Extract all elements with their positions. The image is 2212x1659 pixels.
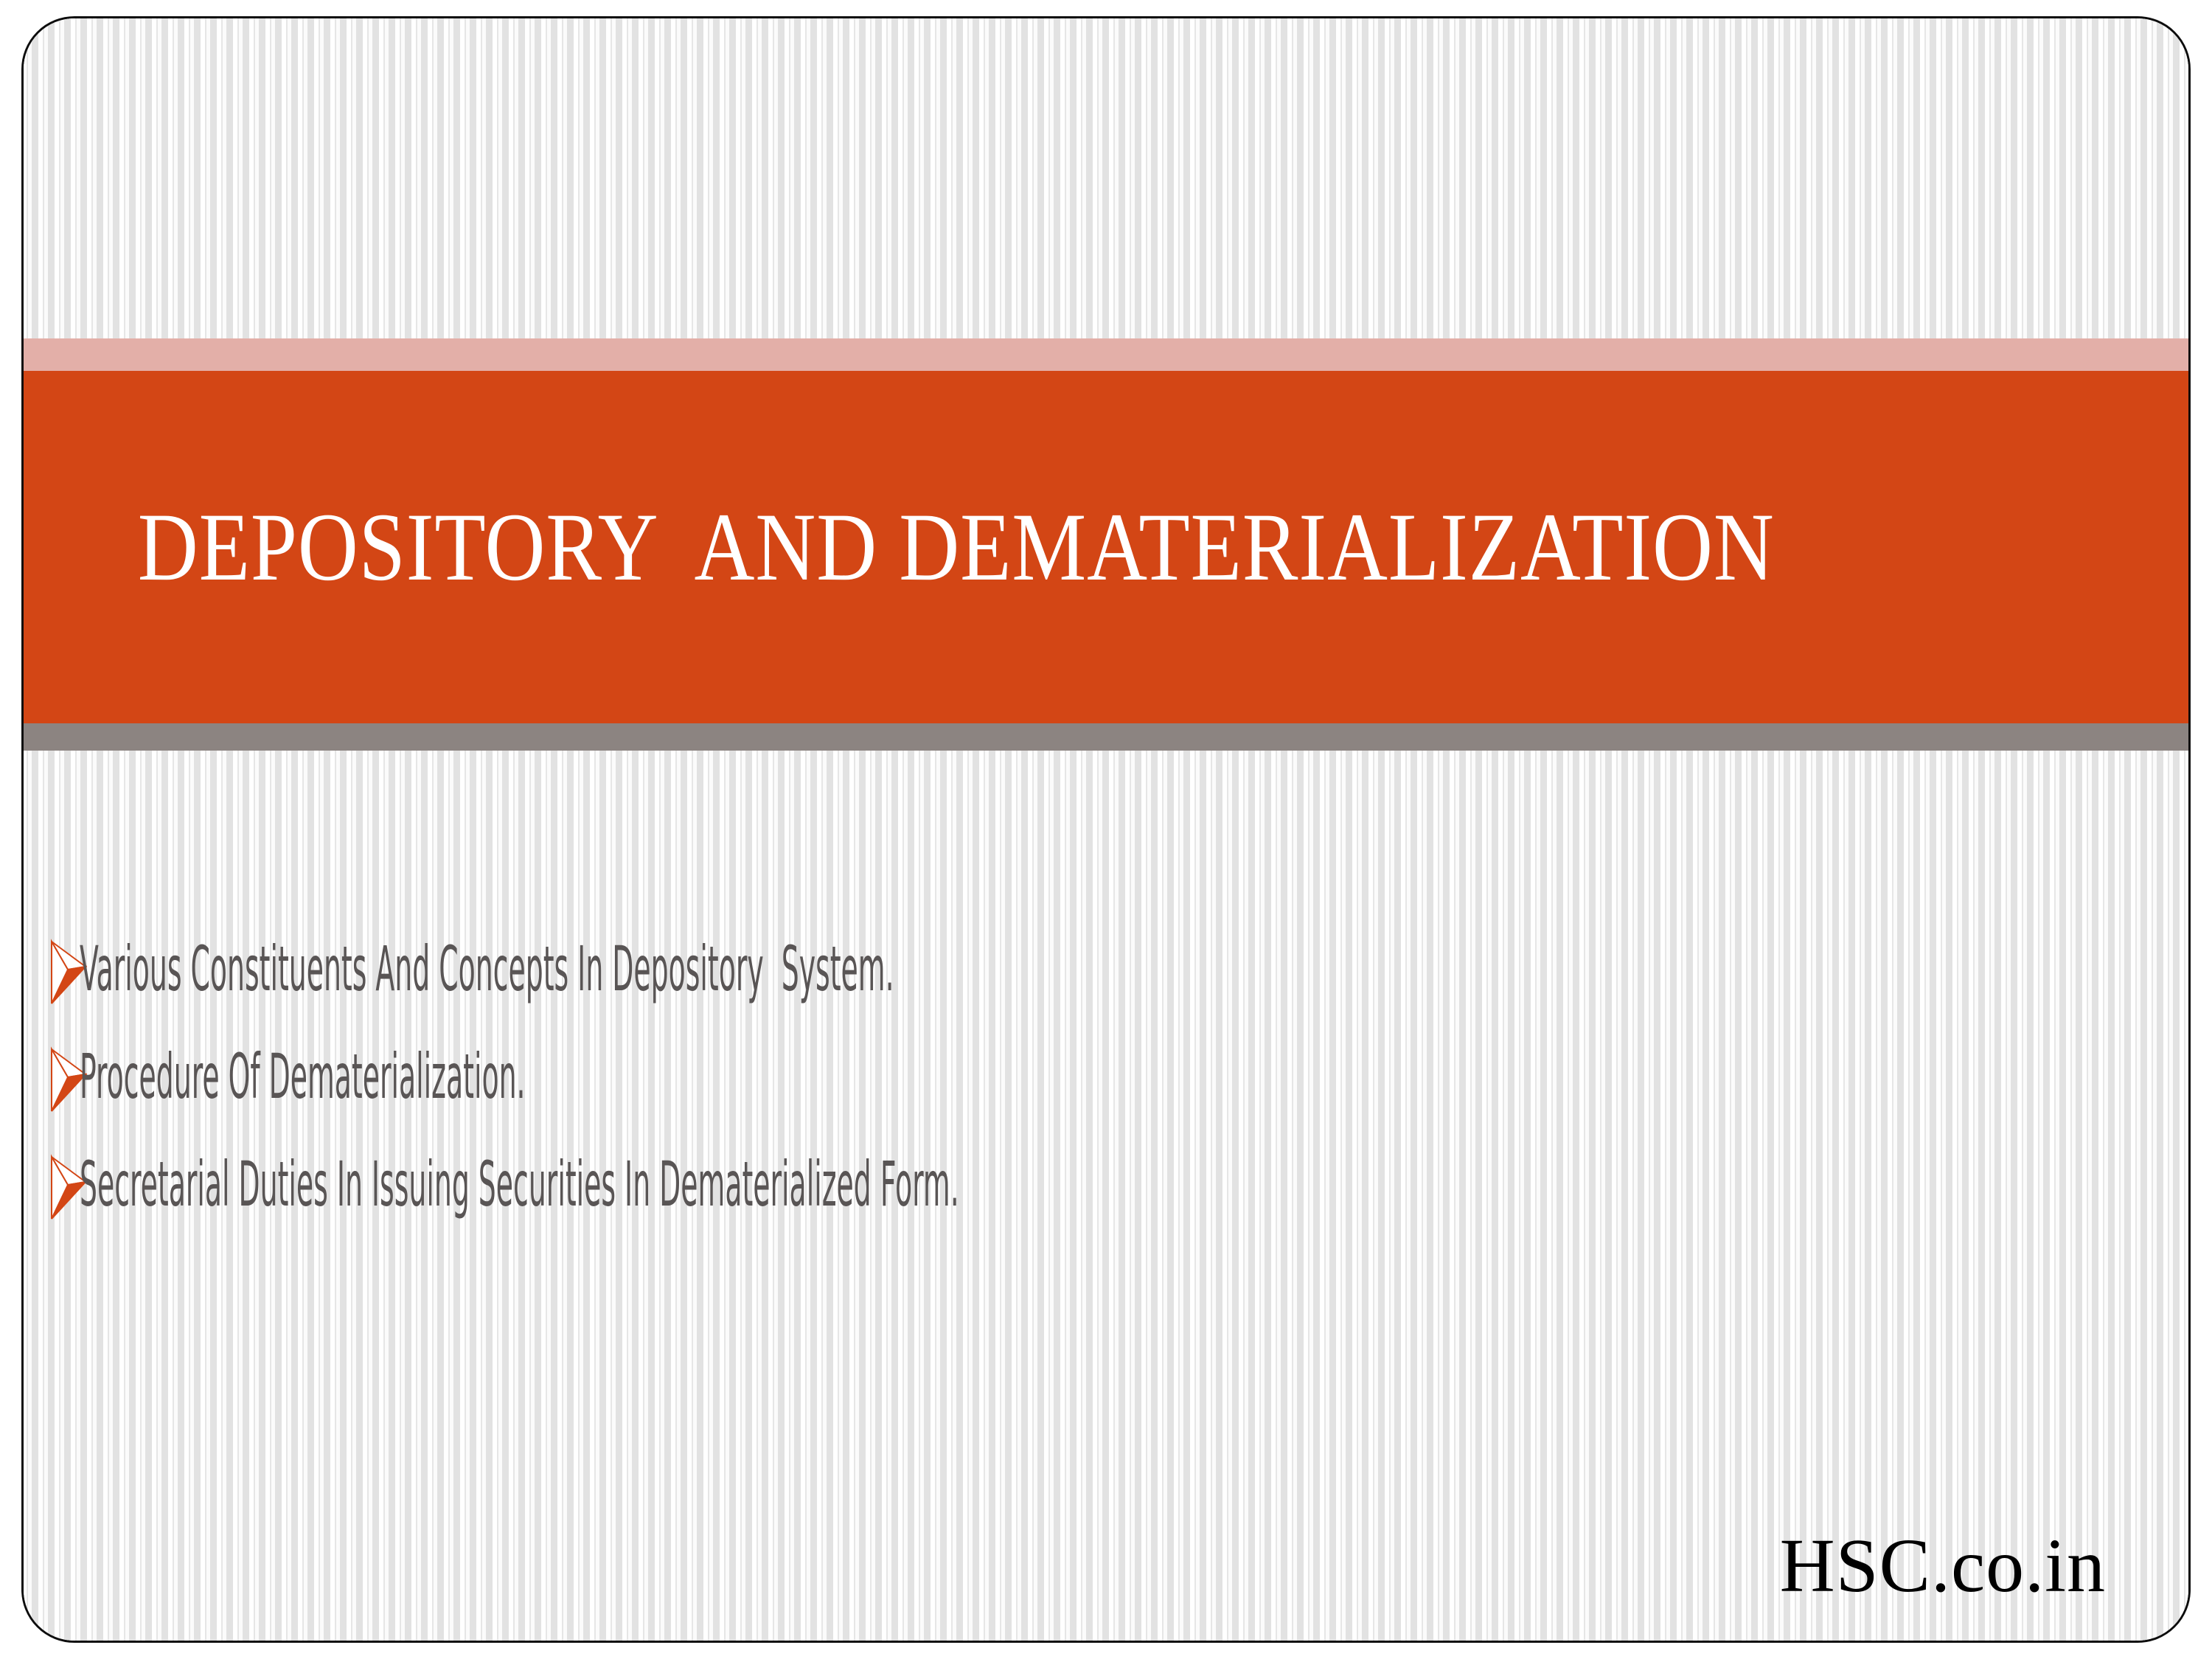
title-band: DEPOSITORY AND DEMATERIALIZATION bbox=[24, 371, 2188, 723]
page-title: DEPOSITORY AND DEMATERIALIZATION bbox=[24, 498, 1775, 596]
bullet-list: Various Constituents And Concepts In Dep… bbox=[49, 933, 2039, 1256]
slide-frame: DEPOSITORY AND DEMATERIALIZATION Various… bbox=[21, 16, 2191, 1643]
footer-brand: HSC.co.in bbox=[1780, 1524, 2106, 1608]
list-item: Various Constituents And Concepts In Dep… bbox=[49, 933, 2039, 1005]
accent-bar-top bbox=[24, 338, 2188, 371]
title-banner: DEPOSITORY AND DEMATERIALIZATION bbox=[24, 338, 2188, 751]
list-item-label: Secretarial Duties In Issuing Securities… bbox=[80, 1148, 959, 1220]
pinstripe-background bbox=[24, 18, 2188, 1641]
accent-bar-bottom bbox=[24, 723, 2188, 751]
list-item-label: Various Constituents And Concepts In Dep… bbox=[80, 933, 894, 1005]
list-item-label: Procedure Of Dematerialization. bbox=[80, 1040, 526, 1113]
list-item: Secretarial Duties In Issuing Securities… bbox=[49, 1148, 2039, 1220]
list-item: Procedure Of Dematerialization. bbox=[49, 1040, 2039, 1113]
